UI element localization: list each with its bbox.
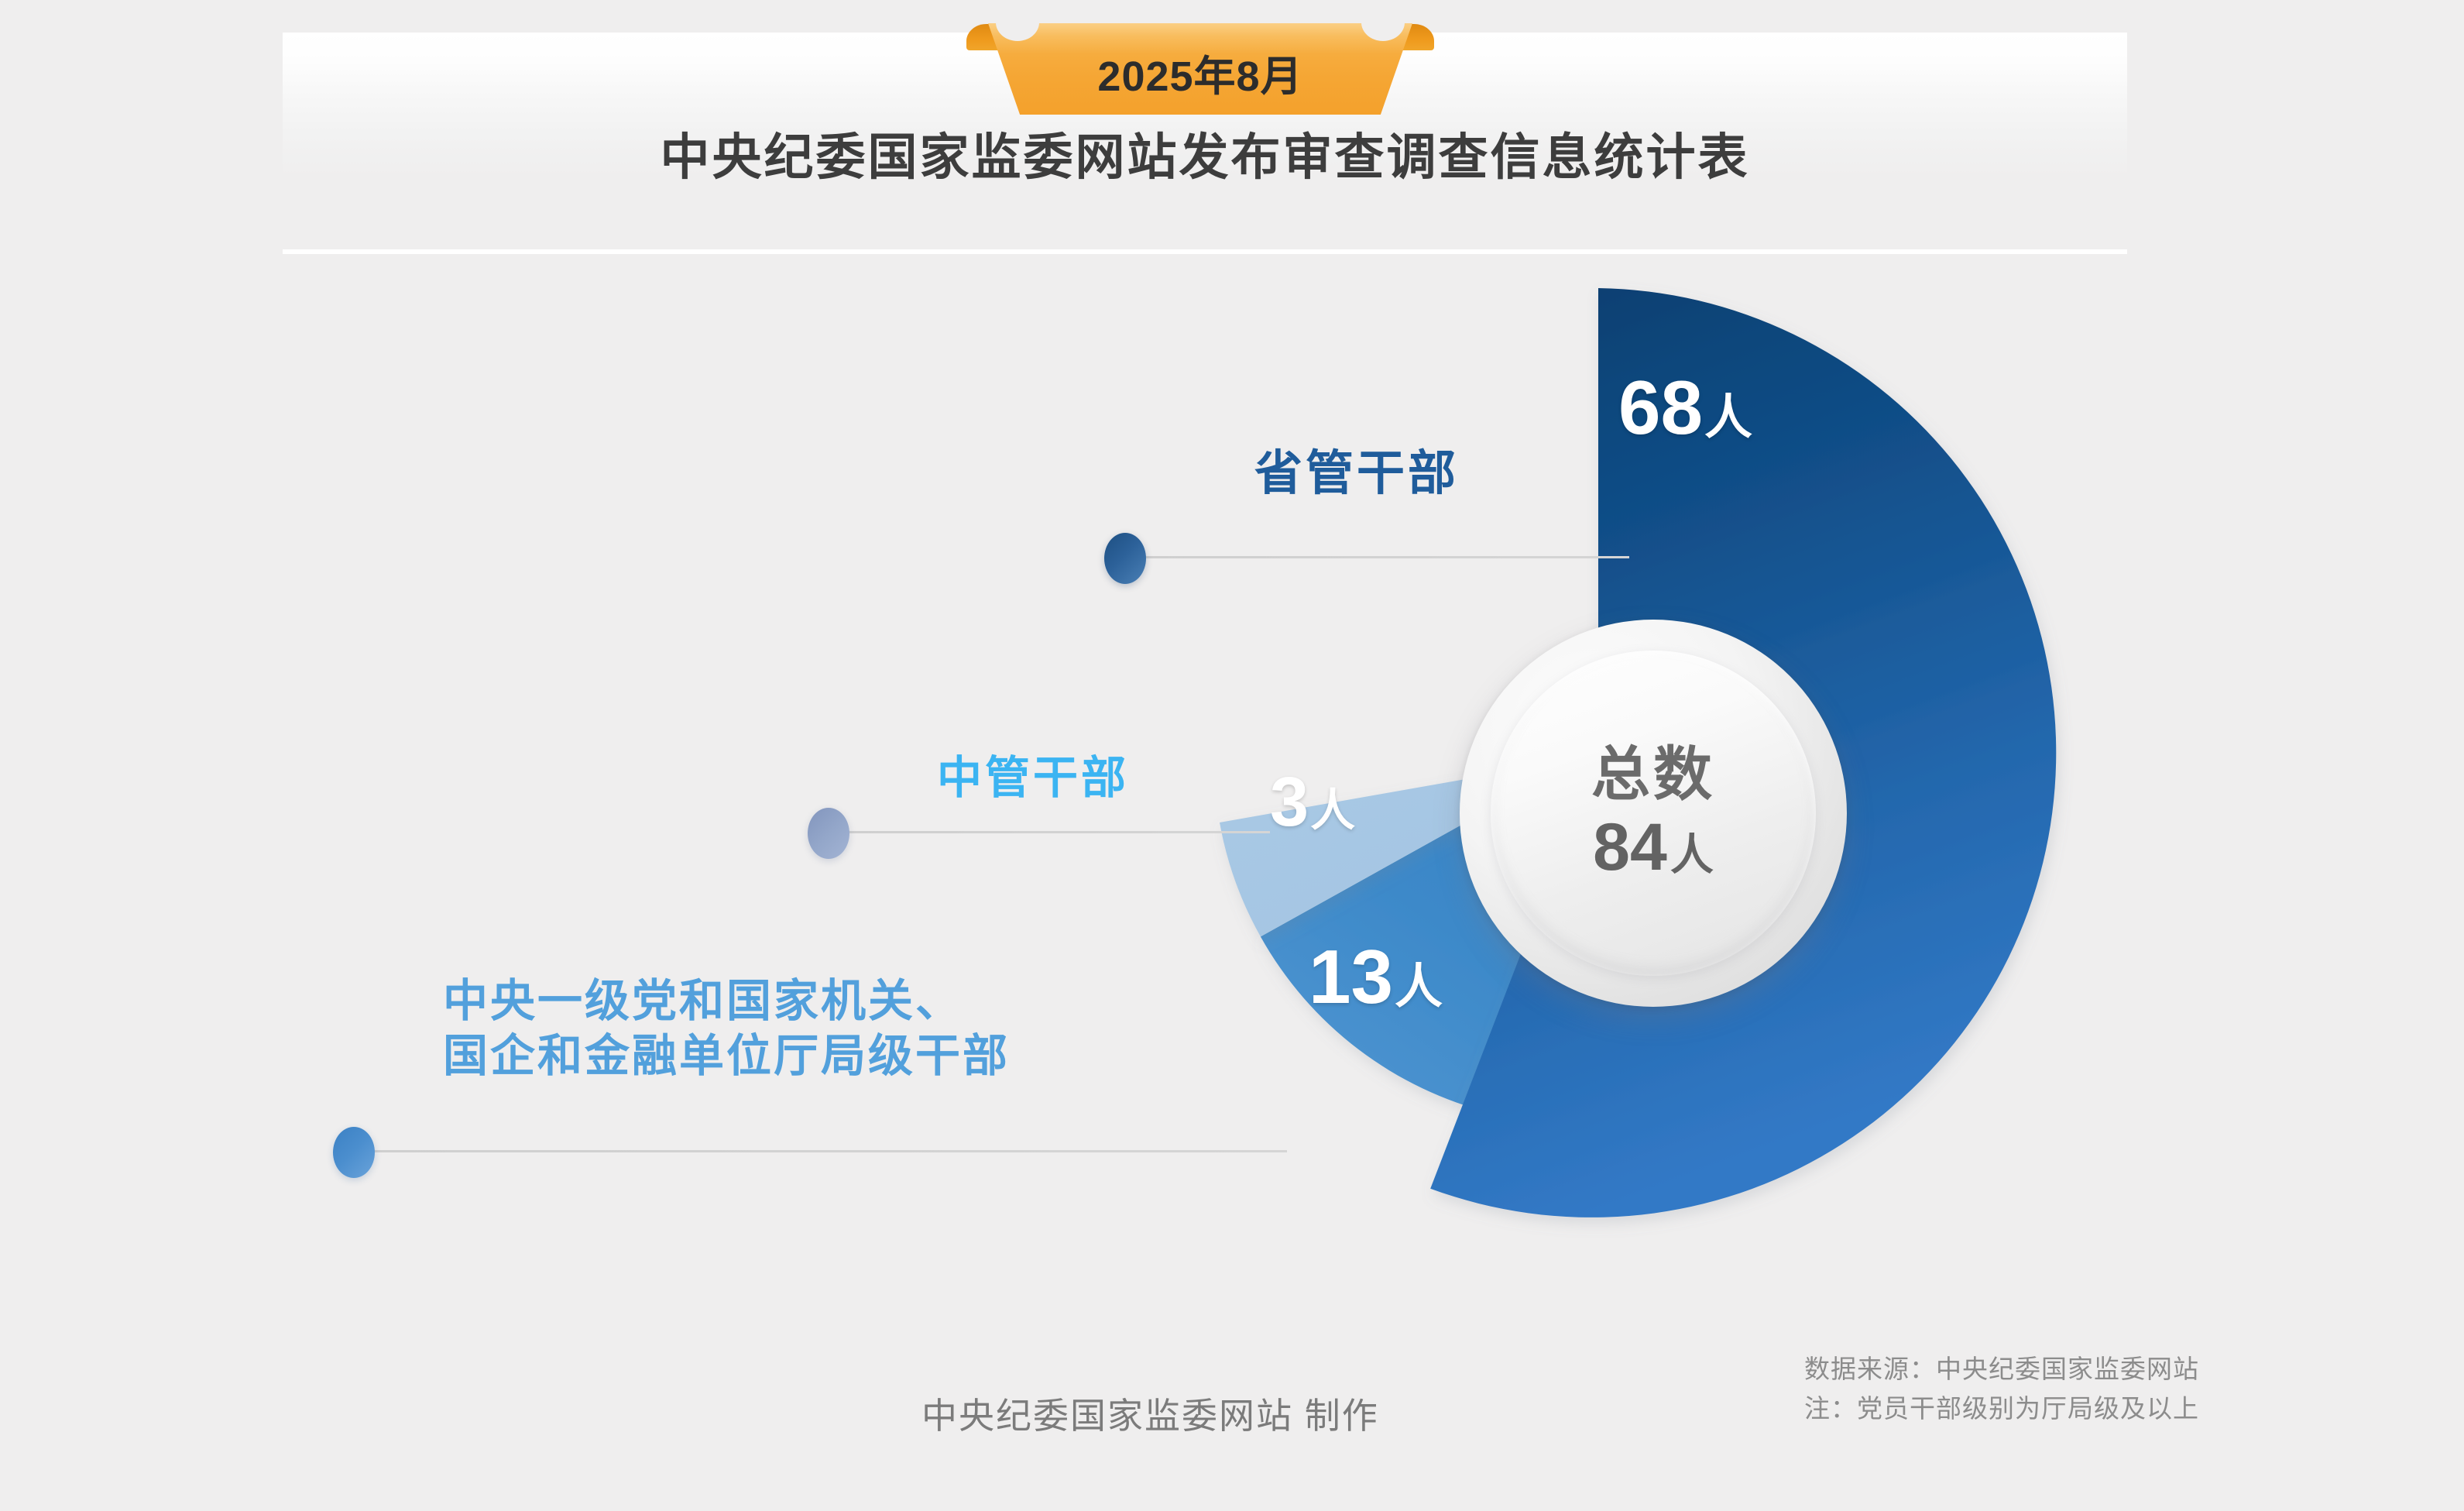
period-badge-label: 2025年8月 <box>966 42 1434 103</box>
segment-value-unit: 人 <box>1704 391 1752 445</box>
donut-chart-svg <box>0 0 2464 1511</box>
segment-value-unit: 人 <box>1310 785 1355 836</box>
total-unit: 人 <box>1670 833 1714 877</box>
leader-dot-zhong-guan[interactable] <box>808 808 849 859</box>
leader-dot-sheng-guan[interactable] <box>1104 533 1146 584</box>
category-label-sheng-guan: 省管干部 <box>1254 445 1459 503</box>
donut-center-hub: 总数 84人 <box>1460 620 1847 1007</box>
segment-value-unit: 人 <box>1395 960 1443 1014</box>
total-label: 总数 <box>1591 746 1715 805</box>
segment-value-number: 13 <box>1309 934 1393 1019</box>
leader-line-zhong-guan <box>848 831 1270 833</box>
segment-value-number: 3 <box>1270 764 1309 841</box>
donut-center-hub-inner: 总数 84人 <box>1491 651 1816 976</box>
category-label-zhong-guan: 中管干部 <box>937 751 1129 806</box>
leader-line-sheng-guan <box>1144 556 1629 558</box>
category-label-zhongyang-yiji: 中央一级党和国家机关、 国企和金融单位厅局级干部 <box>443 974 1010 1084</box>
total-value-group: 84人 <box>1593 814 1714 881</box>
segment-value-sheng-guan: 68人 <box>1618 364 1752 452</box>
donut-chart: 总数 84人 68人 3人 13人 省管干部 中管干部 中央一级党和国家机关、 … <box>0 0 2464 1511</box>
leader-dot-zhongyang-yiji[interactable] <box>333 1127 375 1178</box>
footer-note: 注：党员干部级别为厅局级及以上 <box>1804 1389 2199 1428</box>
segment-value-number: 68 <box>1618 365 1703 450</box>
footer-credit: 中央纪委国家监委网站 制作 <box>921 1388 1379 1439</box>
segment-value-zhong-guan: 3人 <box>1270 763 1355 843</box>
footer-notes: 数据来源：中央纪委国家监委网站 注：党员干部级别为厅局级及以上 <box>1804 1349 2199 1428</box>
footer-source: 数据来源：中央纪委国家监委网站 <box>1804 1349 2199 1389</box>
segment-value-zhongyang-yiji: 13人 <box>1309 933 1443 1021</box>
leader-line-zhongyang-yiji <box>373 1150 1287 1152</box>
total-value: 84 <box>1593 814 1667 881</box>
